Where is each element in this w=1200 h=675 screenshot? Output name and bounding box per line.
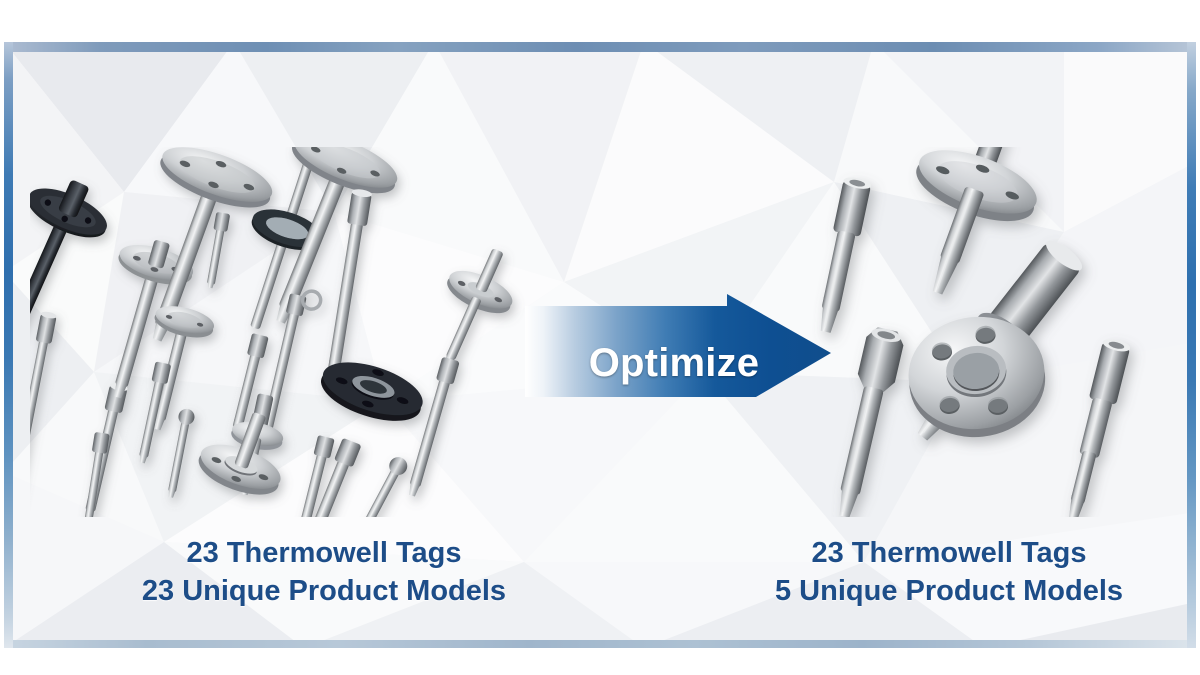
thermowell-cluster-after	[804, 147, 1154, 517]
caption-after-line-2: 5 Unique Product Models	[734, 572, 1164, 610]
caption-before-line-1: 23 Thermowell Tags	[64, 534, 584, 572]
caption-after-line-1: 23 Thermowell Tags	[734, 534, 1164, 572]
caption-after: 23 Thermowell Tags 5 Unique Product Mode…	[734, 534, 1164, 610]
caption-before: 23 Thermowell Tags 23 Unique Product Mod…	[64, 534, 584, 610]
thermowell-cluster-before	[30, 147, 530, 517]
slide-canvas: Optimize 23 Thermowell Tags 23 Unique Pr…	[0, 0, 1200, 675]
optimize-label: Optimize	[564, 337, 784, 389]
caption-before-line-2: 23 Unique Product Models	[64, 572, 584, 610]
framed-panel: Optimize 23 Thermowell Tags 23 Unique Pr…	[4, 42, 1196, 648]
